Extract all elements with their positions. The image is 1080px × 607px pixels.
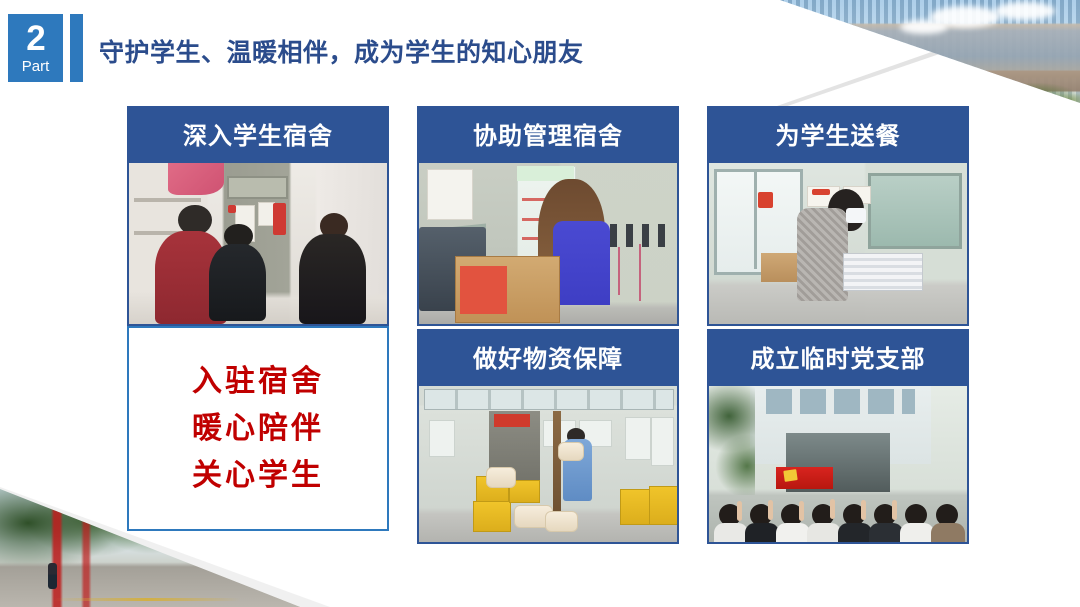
no-entry-sign bbox=[758, 192, 773, 208]
transom-windows bbox=[424, 389, 674, 410]
wall-panel bbox=[651, 417, 674, 466]
column-meal-delivery: 为学生送餐 成立临时党支部 bbox=[707, 106, 969, 531]
road-centerline bbox=[54, 598, 240, 601]
card-header-bar-secondary: 做好物资保障 bbox=[417, 329, 679, 384]
red-poster bbox=[273, 203, 286, 235]
upper-windows bbox=[766, 389, 916, 414]
cloud-shape bbox=[900, 20, 948, 34]
hanging-cloth bbox=[168, 163, 225, 195]
box-red-label bbox=[460, 266, 506, 314]
part-badge: 2 Part bbox=[8, 14, 63, 82]
supply-bag bbox=[558, 442, 583, 461]
supply-box bbox=[649, 486, 679, 525]
part-number: 2 bbox=[8, 14, 63, 56]
column-dormitory-visit: 深入学生宿舍 bbox=[127, 106, 389, 531]
card-header-bar: 协助管理宿舍 bbox=[417, 106, 679, 161]
content-grid: 深入学生宿舍 bbox=[127, 106, 969, 531]
page-title: 守护学生、温暖相伴，成为学生的知心朋友 bbox=[99, 33, 584, 69]
card-header-bar: 为学生送餐 bbox=[707, 106, 969, 161]
card-header-bar-secondary: 成立临时党支部 bbox=[707, 329, 969, 384]
part-label: Part bbox=[8, 56, 63, 74]
wall-panel bbox=[429, 420, 454, 456]
photo-carrying-supplies bbox=[417, 161, 679, 326]
person-vest bbox=[553, 221, 610, 305]
lobby-meal-scene bbox=[709, 163, 967, 324]
meal-boxes bbox=[843, 253, 922, 290]
support-post bbox=[553, 411, 561, 514]
title-accent-bar bbox=[70, 14, 83, 82]
card-header-bar: 深入学生宿舍 bbox=[127, 106, 389, 161]
top-right-campus-photo bbox=[780, 0, 1080, 103]
supply-room-scene bbox=[419, 386, 677, 542]
wall-notice bbox=[427, 169, 473, 219]
door-divider bbox=[754, 169, 757, 269]
slogan-box: 入驻宿舍 暖心陪伴 关心学生 bbox=[127, 326, 389, 531]
person-coat bbox=[797, 208, 849, 301]
red-banner bbox=[494, 414, 530, 426]
oath-ceremony-scene bbox=[709, 386, 967, 542]
red-notice bbox=[812, 189, 830, 195]
photo-meal-delivery bbox=[707, 161, 969, 326]
slide-canvas: 2 Part 守护学生、温暖相伴，成为学生的知心朋友 深入学生宿舍 bbox=[0, 0, 1080, 607]
supply-bag bbox=[545, 511, 578, 532]
red-sticker bbox=[228, 205, 236, 213]
supply-box bbox=[473, 501, 511, 531]
slogan-line: 入驻宿舍 bbox=[192, 367, 324, 397]
slogan-line: 暖心陪伴 bbox=[192, 414, 324, 444]
supply-bag bbox=[486, 467, 516, 488]
door-window bbox=[227, 176, 288, 199]
photo-supply-guarantee bbox=[417, 384, 679, 544]
hall-window bbox=[868, 173, 962, 250]
photo-party-branch bbox=[707, 384, 969, 544]
photo-dormitory-conversation bbox=[127, 161, 389, 326]
dorm-lobby-scene bbox=[419, 163, 677, 324]
wall-panel bbox=[625, 417, 650, 460]
face-mask bbox=[846, 208, 867, 222]
person-body bbox=[299, 234, 366, 324]
student-crowd bbox=[709, 480, 967, 542]
cloud-shape bbox=[995, 2, 1055, 20]
person-body bbox=[209, 244, 266, 321]
column-dormitory-management: 协助管理宿舍 bbox=[417, 106, 679, 531]
slogan-line: 关心学生 bbox=[192, 461, 324, 491]
dorm-room-scene bbox=[129, 163, 387, 324]
pedestrian-figure bbox=[48, 563, 57, 589]
